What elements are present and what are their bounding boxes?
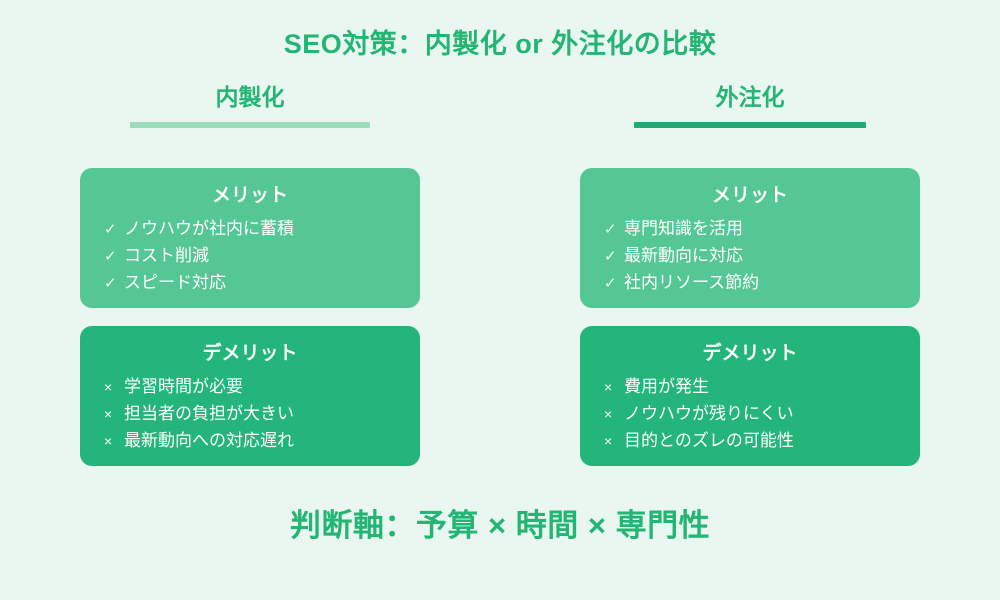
check-icon: ✓: [104, 218, 124, 242]
list-item: ✓ 専門知識を活用: [604, 216, 920, 243]
cross-icon: ×: [604, 376, 624, 398]
list-item-label: 担当者の負担が大きい: [124, 401, 294, 428]
demerit-item-list: × 学習時間が必要 × 担当者の負担が大きい × 最新動向への対応遅れ: [80, 374, 420, 455]
column-title-outsourcing: 外注化: [580, 86, 920, 109]
card-stack-outsourcing: メリット ✓ 専門知識を活用 ✓ 最新動向に対応 ✓ 社内リソース節約 デメリッ…: [580, 168, 920, 466]
column-title-insourcing: 内製化: [80, 86, 420, 109]
cross-icon: ×: [104, 430, 124, 452]
merit-item-list: ✓ 専門知識を活用 ✓ 最新動向に対応 ✓ 社内リソース節約: [580, 216, 920, 297]
column-underline-insourcing: [130, 122, 370, 128]
demerit-card-title: デメリット: [580, 338, 920, 365]
list-item-label: 費用が発生: [624, 374, 709, 401]
list-item-label: 学習時間が必要: [124, 374, 243, 401]
column-underline-outsourcing: [634, 122, 866, 128]
list-item-label: 専門知識を活用: [624, 216, 743, 243]
list-item: × 最新動向への対応遅れ: [104, 428, 420, 455]
list-item-label: ノウハウが社内に蓄積: [124, 216, 294, 243]
list-item-label: スピード対応: [124, 270, 226, 297]
cross-icon: ×: [104, 376, 124, 398]
demerit-item-list: × 費用が発生 × ノウハウが残りにくい × 目的とのズレの可能性: [580, 374, 920, 455]
list-item-label: ノウハウが残りにくい: [624, 401, 794, 428]
list-item-label: 最新動向に対応: [624, 243, 743, 270]
list-item-label: コスト削減: [124, 243, 209, 270]
comparison-slide: SEO対策：内製化 or 外注化の比較 内製化 外注化 メリット ✓ ノウハウが…: [0, 0, 1000, 600]
column-header-outsourcing: 外注化: [580, 86, 920, 128]
demerit-card-title: デメリット: [80, 338, 420, 365]
cross-icon: ×: [104, 403, 124, 425]
cross-icon: ×: [604, 403, 624, 425]
list-item: ✓ スピード対応: [104, 270, 420, 297]
list-item: ✓ ノウハウが社内に蓄積: [104, 216, 420, 243]
card-stack-insourcing: メリット ✓ ノウハウが社内に蓄積 ✓ コスト削減 ✓ スピード対応 デメリット: [80, 168, 420, 466]
merit-item-list: ✓ ノウハウが社内に蓄積 ✓ コスト削減 ✓ スピード対応: [80, 216, 420, 297]
list-item: × 担当者の負担が大きい: [104, 401, 420, 428]
page-title: SEO対策：内製化 or 外注化の比較: [0, 22, 1000, 61]
list-item: × 費用が発生: [604, 374, 920, 401]
demerit-card-outsourcing: デメリット × 費用が発生 × ノウハウが残りにくい × 目的とのズレの可能性: [580, 326, 920, 466]
list-item-label: 最新動向への対応遅れ: [124, 428, 294, 455]
check-icon: ✓: [604, 272, 624, 296]
check-icon: ✓: [604, 218, 624, 242]
demerit-card-insourcing: デメリット × 学習時間が必要 × 担当者の負担が大きい × 最新動向への対応遅…: [80, 326, 420, 466]
check-icon: ✓: [104, 272, 124, 296]
merit-card-insourcing: メリット ✓ ノウハウが社内に蓄積 ✓ コスト削減 ✓ スピード対応: [80, 168, 420, 308]
check-icon: ✓: [104, 245, 124, 269]
merit-card-title: メリット: [80, 180, 420, 207]
merit-card-outsourcing: メリット ✓ 専門知識を活用 ✓ 最新動向に対応 ✓ 社内リソース節約: [580, 168, 920, 308]
cross-icon: ×: [604, 430, 624, 452]
list-item: × 学習時間が必要: [104, 374, 420, 401]
conclusion-statement: 判断軸：予算 × 時間 × 専門性: [0, 500, 1000, 545]
list-item: ✓ コスト削減: [104, 243, 420, 270]
check-icon: ✓: [604, 245, 624, 269]
list-item: × 目的とのズレの可能性: [604, 428, 920, 455]
list-item-label: 目的とのズレの可能性: [624, 428, 794, 455]
list-item: ✓ 社内リソース節約: [604, 270, 920, 297]
list-item: × ノウハウが残りにくい: [604, 401, 920, 428]
column-header-insourcing: 内製化: [80, 86, 420, 128]
list-item-label: 社内リソース節約: [624, 270, 759, 297]
merit-card-title: メリット: [580, 180, 920, 207]
list-item: ✓ 最新動向に対応: [604, 243, 920, 270]
